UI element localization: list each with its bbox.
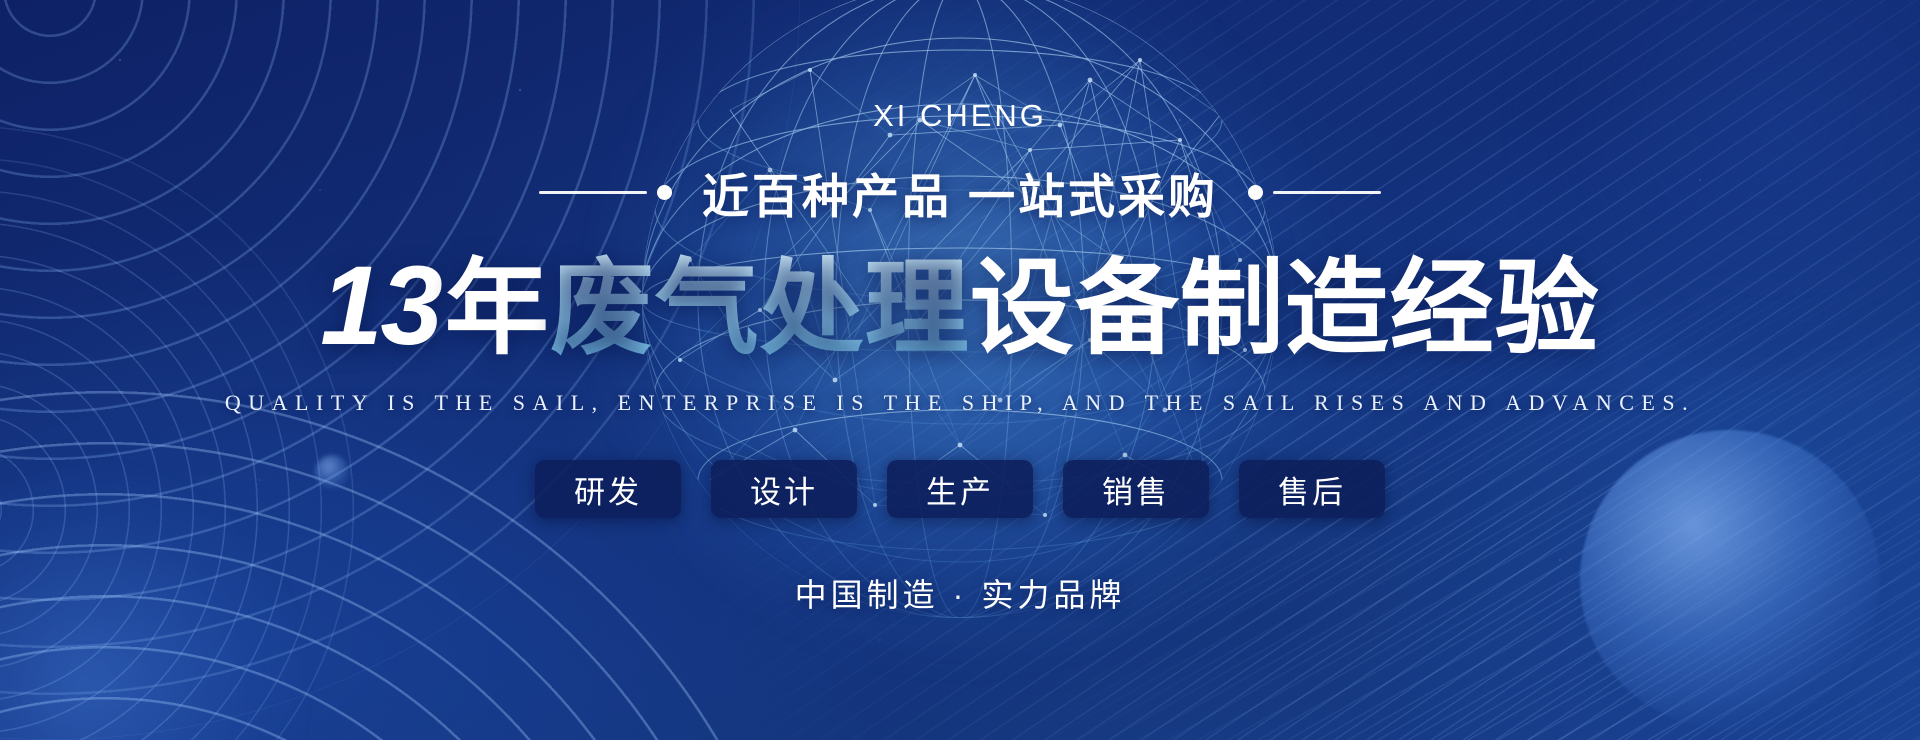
decorative-line-left: [539, 185, 672, 200]
footer-separator-dot: ·: [939, 577, 982, 613]
decorative-bar-right: [1273, 191, 1381, 194]
pill-aftersales[interactable]: 售后: [1239, 460, 1385, 518]
pill-sales[interactable]: 销售: [1063, 460, 1209, 518]
promo-banner: XI CHENG 近百种产品 一站式采购 13年废气处理设备制造经验 QUALI…: [0, 0, 1920, 740]
footer-slogan: 中国制造·实力品牌: [795, 570, 1126, 616]
decorative-bar-left: [539, 191, 647, 194]
decorative-dot-right: [1248, 185, 1263, 200]
subtitle-row: 近百种产品 一站式采购: [539, 158, 1381, 227]
english-tagline: QUALITY IS THE SAIL, ENTERPRISE IS THE S…: [225, 390, 1695, 416]
footer-slogan-left: 中国制造: [795, 577, 939, 613]
headline-accent: 废气处理: [550, 251, 970, 367]
decorative-dot-left: [657, 185, 672, 200]
headline-tail: 设备制造经验: [970, 251, 1600, 367]
footer-slogan-right: 实力品牌: [981, 577, 1125, 613]
service-pill-group: 研发 设计 生产 销售 售后: [535, 460, 1385, 518]
headline-number: 13: [320, 243, 445, 368]
decorative-line-right: [1248, 185, 1381, 200]
brand-name-en: XI CHENG: [873, 98, 1047, 134]
banner-subtitle: 近百种产品 一站式采购: [702, 158, 1218, 227]
pill-production[interactable]: 生产: [887, 460, 1033, 518]
banner-content: XI CHENG 近百种产品 一站式采购 13年废气处理设备制造经验 QUALI…: [0, 0, 1920, 740]
headline-year-unit: 年: [445, 251, 550, 367]
pill-design[interactable]: 设计: [711, 460, 857, 518]
pill-rd[interactable]: 研发: [535, 460, 681, 518]
headline: 13年废气处理设备制造经验: [320, 243, 1600, 368]
